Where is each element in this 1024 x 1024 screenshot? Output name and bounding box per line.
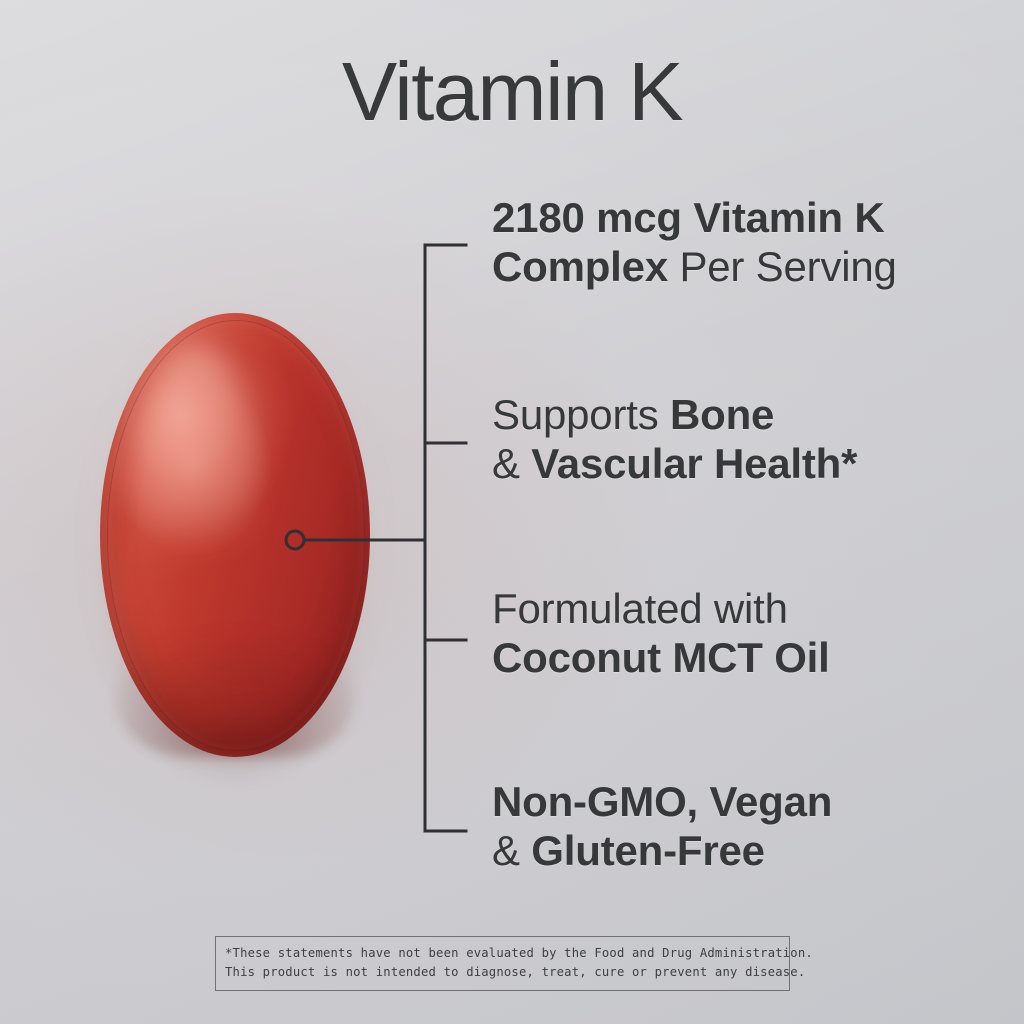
callout-diet-claims-line-1: Non-GMO, Vegan	[492, 777, 992, 826]
softgel-capsule-image	[100, 313, 370, 757]
product-infographic: Vitamin K 2180 mcg Vitamin K Complex Per…	[0, 0, 1024, 1024]
callout-diet-claims-line-2: & Gluten-Free	[492, 826, 992, 875]
fda-disclaimer-line-1: *These statements have not been evaluate…	[225, 944, 780, 963]
callout-formulation-line-2: Coconut MCT Oil	[492, 633, 992, 682]
fda-disclaimer-line-2: This product is not intended to diagnose…	[225, 963, 780, 982]
callout-benefit: Supports Bone & Vascular Health*	[492, 390, 992, 488]
callout-dosage-line-1: 2180 mcg Vitamin K	[492, 193, 992, 242]
callout-formulation-line-1: Formulated with	[492, 584, 992, 633]
callout-diet-claims: Non-GMO, Vegan & Gluten-Free	[492, 777, 992, 875]
callout-formulation: Formulated with Coconut MCT Oil	[492, 584, 992, 682]
callout-dosage: 2180 mcg Vitamin K Complex Per Serving	[492, 193, 992, 291]
fda-disclaimer: *These statements have not been evaluate…	[215, 936, 790, 991]
capsule-shading	[116, 606, 354, 757]
page-title: Vitamin K	[0, 48, 1024, 135]
capsule-body	[100, 313, 370, 757]
callout-benefit-line-2: & Vascular Health*	[492, 439, 992, 488]
callout-dosage-line-2: Complex Per Serving	[492, 242, 992, 291]
callout-benefit-line-1: Supports Bone	[492, 390, 992, 439]
